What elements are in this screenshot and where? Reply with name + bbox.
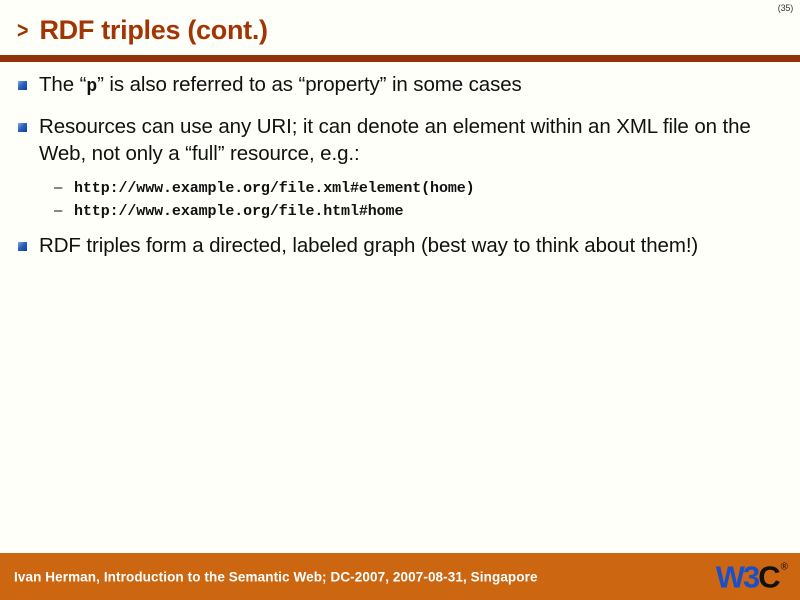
slide-body: The “p” is also referred to as “property… xyxy=(18,71,776,272)
page-number: (35) xyxy=(778,3,793,13)
bullet-text-prefix: The “ xyxy=(39,73,86,96)
dash-icon: – xyxy=(54,203,74,218)
uri-text: http://www.example.org/file.xml#element(… xyxy=(74,180,475,197)
bullet-text: The “p” is also referred to as “property… xyxy=(39,71,776,100)
w3c-logo-w3: W3 xyxy=(716,561,759,592)
registered-trademark-icon: ® xyxy=(781,562,788,572)
slide: (35) > RDF triples (cont.) The “p” is al… xyxy=(0,0,800,600)
bullet-square-icon xyxy=(18,81,27,90)
dash-icon: – xyxy=(54,180,74,195)
sub-list-item: – http://www.example.org/file.xml#elemen… xyxy=(54,180,776,197)
slide-footer: Ivan Herman, Introduction to the Semanti… xyxy=(0,553,800,600)
sub-list: – http://www.example.org/file.xml#elemen… xyxy=(54,180,776,220)
chevron-right-icon: > xyxy=(17,19,28,42)
slide-title-row: > RDF triples (cont.) xyxy=(16,10,760,50)
w3c-logo-c: C xyxy=(758,561,779,592)
list-item: The “p” is also referred to as “property… xyxy=(18,71,776,100)
bullet-square-icon xyxy=(18,123,27,132)
uri-text: http://www.example.org/file.html#home xyxy=(74,203,403,220)
bullet-text-code: p xyxy=(86,77,97,97)
w3c-logo: W3C® xyxy=(716,561,788,592)
bullet-text: RDF triples form a directed, labeled gra… xyxy=(39,232,776,259)
page-title: RDF triples (cont.) xyxy=(39,17,267,44)
list-item: Resources can use any URI; it can denote… xyxy=(18,113,776,167)
list-item: RDF triples form a directed, labeled gra… xyxy=(18,232,776,259)
bullet-text: Resources can use any URI; it can denote… xyxy=(39,113,776,167)
bullet-square-icon xyxy=(18,242,27,251)
bullet-text-suffix: ” is also referred to as “property” in s… xyxy=(97,73,522,96)
sub-list-item: – http://www.example.org/file.html#home xyxy=(54,203,776,220)
footer-attribution: Ivan Herman, Introduction to the Semanti… xyxy=(14,569,538,584)
title-divider xyxy=(0,55,800,62)
